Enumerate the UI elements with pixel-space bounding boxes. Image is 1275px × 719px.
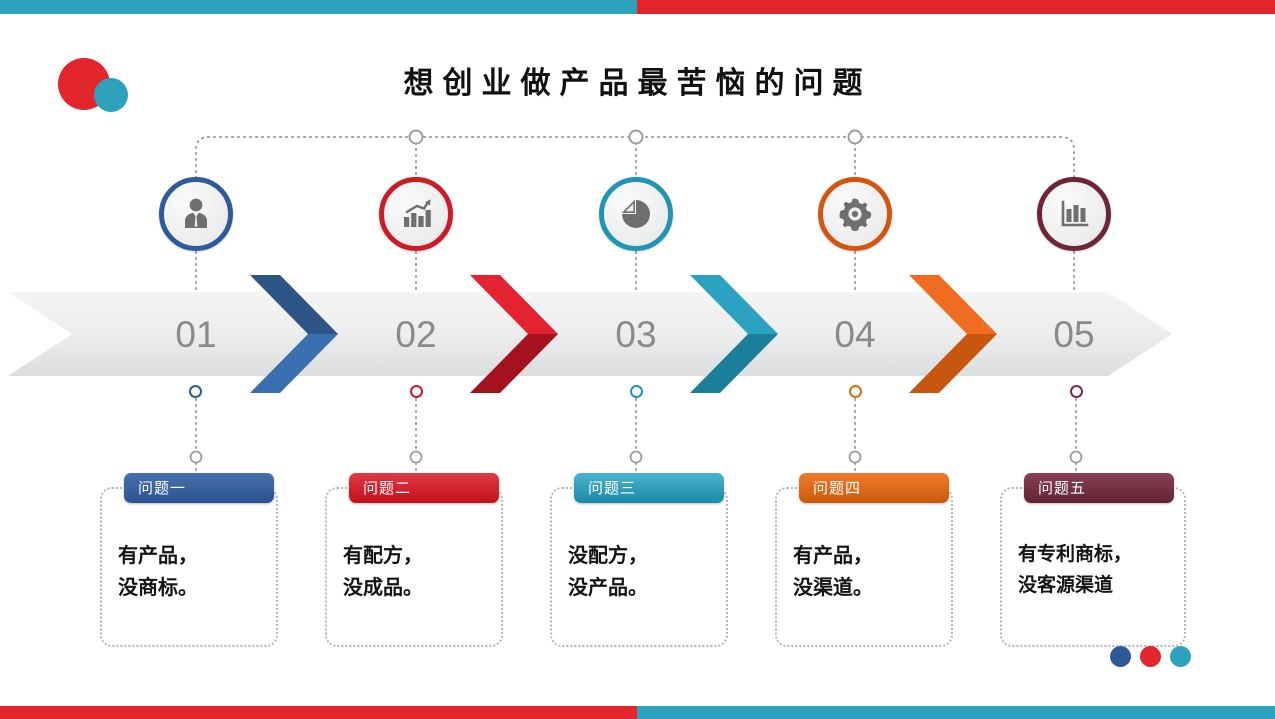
top-accent-bar [0,0,1275,14]
gear-icon [818,177,892,251]
footer-dots [1110,646,1200,668]
step-number-5: 05 [1014,312,1134,358]
step-icon-2[interactable] [379,177,453,251]
page-title: 想创业做产品最苦恼的问题 [0,58,1275,102]
problem-card-2-line-2: 没成品。 [343,571,491,603]
problem-card-5-line-1: 有专利商标， [1018,539,1174,570]
step-number-3: 03 [576,312,696,358]
bar-chart-icon [1037,177,1111,251]
card-node-5 [1071,452,1082,463]
chevron-3 [690,275,808,393]
bottom-accent-bar [0,706,1275,719]
step-marker-4 [849,385,862,398]
problem-card-2[interactable]: 问题二 有配方， 没成品。 [325,487,503,647]
step-number-2: 02 [356,312,476,358]
problem-card-5[interactable]: 问题五 有专利商标， 没客源渠道 [1000,487,1186,647]
problem-card-2-text: 有配方， 没成品。 [343,539,491,604]
rail-node-4 [849,131,862,144]
problem-card-4-label: 问题四 [799,473,949,503]
card-node-3 [631,452,642,463]
step-icon-1[interactable] [159,177,233,251]
card-node-4 [850,452,861,463]
growth-chart-icon [379,177,453,251]
chevron-1 [250,275,368,393]
problem-card-4-text: 有产品， 没渠道。 [793,539,941,604]
businessman-icon [159,177,233,251]
step-marker-1 [189,385,202,398]
problem-card-2-label: 问题二 [349,473,499,503]
problem-card-4[interactable]: 问题四 有产品， 没渠道。 [775,487,953,647]
chevron-4 [909,275,1027,393]
problem-card-3-text: 没配方， 没产品。 [568,539,716,604]
problem-card-1-text: 有产品， 没商标。 [118,539,266,604]
step-number-1: 01 [136,312,256,358]
problem-card-1[interactable]: 问题一 有产品， 没商标。 [100,487,278,647]
problem-card-5-line-2: 没客源渠道 [1018,570,1174,601]
card-node-1 [191,452,202,463]
step-number-4: 04 [795,312,915,358]
footer-dot-red [1140,646,1161,667]
problem-card-4-line-2: 没渠道。 [793,571,941,603]
top-accent-bar-left [0,0,637,14]
footer-dot-teal [1170,646,1191,667]
card-node-2 [411,452,422,463]
pie-chart-icon [599,177,673,251]
problem-card-1-label: 问题一 [124,473,274,503]
top-accent-bar-right [637,0,1275,14]
step-marker-3 [630,385,643,398]
rail-node-3 [630,131,643,144]
problem-card-5-text: 有专利商标， 没客源渠道 [1018,539,1174,601]
problem-card-5-label: 问题五 [1024,473,1174,503]
problem-card-4-line-1: 有产品， [793,539,941,571]
step-marker-2 [410,385,423,398]
chevron-2 [470,275,588,393]
bottom-accent-bar-right [637,706,1275,719]
step-icon-4[interactable] [818,177,892,251]
rail-node-2 [410,131,423,144]
problem-card-3[interactable]: 问题三 没配方， 没产品。 [550,487,728,647]
step-icon-3[interactable] [599,177,673,251]
problem-card-3-line-1: 没配方， [568,539,716,571]
problem-card-1-line-1: 有产品， [118,539,266,571]
slide-canvas: 想创业做产品最苦恼的问题 [0,0,1275,719]
step-marker-5 [1070,385,1083,398]
problem-card-3-label: 问题三 [574,473,724,503]
problem-card-3-line-2: 没产品。 [568,571,716,603]
problem-card-1-line-2: 没商标。 [118,571,266,603]
step-icon-5[interactable] [1037,177,1111,251]
problem-card-2-line-1: 有配方， [343,539,491,571]
bottom-accent-bar-left [0,706,637,719]
footer-dot-blue [1110,646,1131,667]
